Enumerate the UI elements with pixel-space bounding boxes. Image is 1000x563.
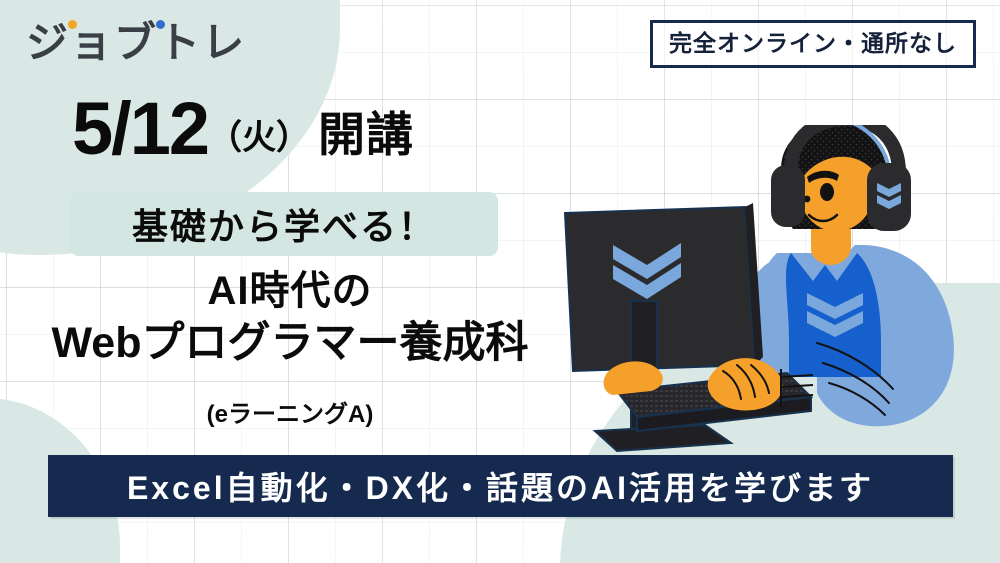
start-day-of-week: （火） xyxy=(208,119,310,157)
online-only-badge: 完全オンライン・通所なし xyxy=(650,20,976,68)
poster-canvas: ジョブトレ 完全オンライン・通所なし 5/12（火）開講 基礎から学べる！ AI… xyxy=(0,0,1000,563)
course-title-line1: AI時代の xyxy=(0,268,580,314)
start-date: 5/12 xyxy=(72,87,208,170)
illustration-person-at-computer xyxy=(555,125,1000,465)
start-event-label: 開講 xyxy=(318,108,414,161)
highlight-band: 基礎から学べる！ xyxy=(70,192,498,256)
feature-banner-label: Excel自動化・DX化・話題のAI活用を学びます xyxy=(127,463,874,509)
logo-char-bu: ブ xyxy=(114,22,158,64)
highlight-band-label: 基礎から学べる！ xyxy=(132,198,436,250)
logo-char-re: レ xyxy=(202,19,246,66)
course-title: AI時代の Webプログラマー養成科 xyxy=(0,268,580,370)
eye xyxy=(820,183,834,201)
logo-char-ji: ジ xyxy=(26,22,70,64)
online-only-badge-label: 完全オンライン・通所なし xyxy=(669,30,957,56)
headphone-earcup-left xyxy=(771,165,805,227)
start-date-line: 5/12（火）開講 xyxy=(72,92,414,166)
brand-logo: ジョブトレ xyxy=(26,22,246,64)
course-title-line2: Webプログラマー養成科 xyxy=(0,318,580,370)
course-subtitle: (eラーニングA) xyxy=(0,394,580,429)
